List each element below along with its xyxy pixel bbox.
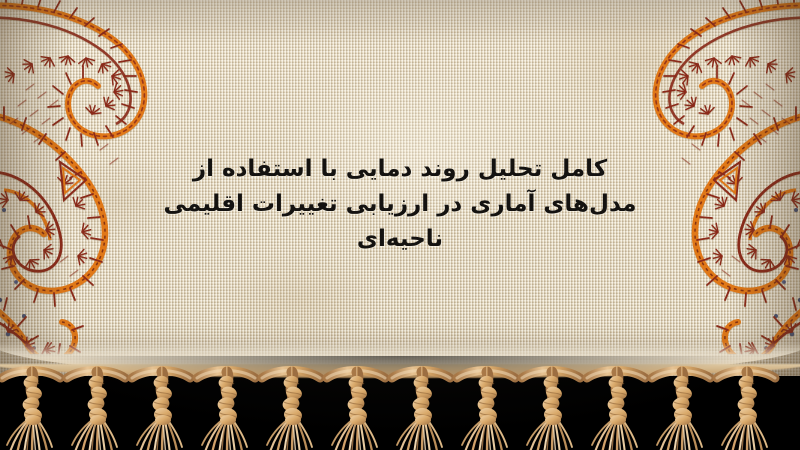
title-line-1: کامل تحلیل روند دمایی با استفاده از xyxy=(0,152,800,187)
cloth-drop-shadow xyxy=(0,356,800,390)
slide-canvas: کامل تحلیل روند دمایی با استفاده از مدل‌… xyxy=(0,0,800,450)
title-line-2: مدل‌های آماری در ارزیابی تغییرات اقلیمی xyxy=(0,187,800,222)
title-line-3: ناحیه‌ای xyxy=(0,222,800,257)
slide-title: کامل تحلیل روند دمایی با استفاده از مدل‌… xyxy=(0,152,800,257)
embroidered-cloth: کامل تحلیل روند دمایی با استفاده از مدل‌… xyxy=(0,0,800,376)
